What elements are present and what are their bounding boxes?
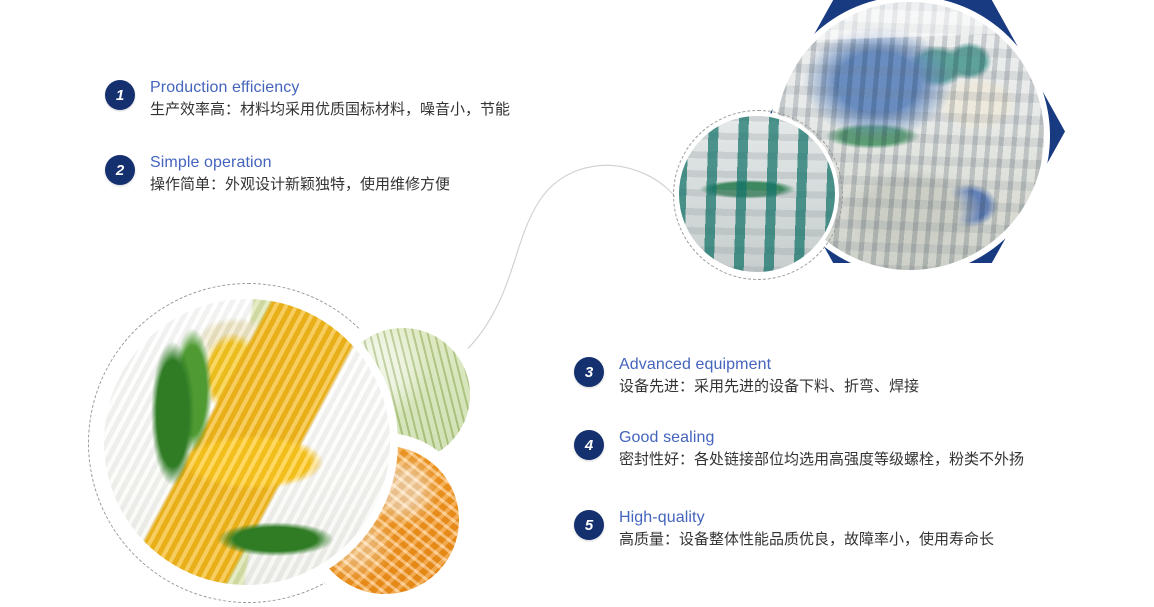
- feature-item-2[interactable]: 2 Simple operation 操作简单：外观设计新颖独特，使用维修方便: [105, 153, 450, 196]
- feature-item-4[interactable]: 4 Good sealing 密封性好：各处链接部位均选用高强度等级螺栓，粉类不…: [574, 428, 1024, 471]
- feature-badge-2: 2: [105, 155, 135, 185]
- feature-badge-4: 4: [574, 430, 604, 460]
- feature-text-2: Simple operation 操作简单：外观设计新颖独特，使用维修方便: [150, 153, 450, 196]
- feature-text-3: Advanced equipment 设备先进：采用先进的设备下料、折弯、焊接: [619, 355, 919, 398]
- feature-title-4: Good sealing: [619, 428, 1024, 448]
- feature-desc-4: 密封性好：各处链接部位均选用高强度等级螺栓，粉类不外扬: [619, 449, 1024, 471]
- feature-badge-5: 5: [574, 510, 604, 540]
- corn-photo[interactable]: [104, 299, 390, 585]
- feature-title-3: Advanced equipment: [619, 355, 919, 375]
- green-milling-machinery-image: [679, 116, 835, 272]
- feature-item-3[interactable]: 3 Advanced equipment 设备先进：采用先进的设备下料、折弯、焊…: [574, 355, 919, 398]
- feature-text-1: Production efficiency 生产效率高：材料均采用优质国标材料，…: [150, 78, 510, 121]
- factory-small-photo[interactable]: [679, 116, 835, 272]
- feature-item-1[interactable]: 1 Production efficiency 生产效率高：材料均采用优质国标材…: [105, 78, 510, 121]
- feature-desc-2: 操作简单：外观设计新颖独特，使用维修方便: [150, 174, 450, 196]
- feature-badge-1: 1: [105, 80, 135, 110]
- feature-item-5[interactable]: 5 High-quality 高质量：设备整体性能品质优良，故障率小，使用寿命长: [574, 508, 994, 551]
- infographic-canvas: 1 Production efficiency 生产效率高：材料均采用优质国标材…: [0, 0, 1154, 591]
- feature-desc-3: 设备先进：采用先进的设备下料、折弯、焊接: [619, 376, 919, 398]
- feature-title-2: Simple operation: [150, 153, 450, 173]
- feature-text-4: Good sealing 密封性好：各处链接部位均选用高强度等级螺栓，粉类不外扬: [619, 428, 1024, 471]
- feature-desc-1: 生产效率高：材料均采用优质国标材料，噪音小，节能: [150, 99, 510, 121]
- feature-text-5: High-quality 高质量：设备整体性能品质优良，故障率小，使用寿命长: [619, 508, 994, 551]
- feature-badge-3: 3: [574, 357, 604, 387]
- feature-title-1: Production efficiency: [150, 78, 510, 98]
- fresh-corn-cob-image: [104, 299, 390, 585]
- feature-title-5: High-quality: [619, 508, 994, 528]
- feature-desc-5: 高质量：设备整体性能品质优良，故障率小，使用寿命长: [619, 529, 994, 551]
